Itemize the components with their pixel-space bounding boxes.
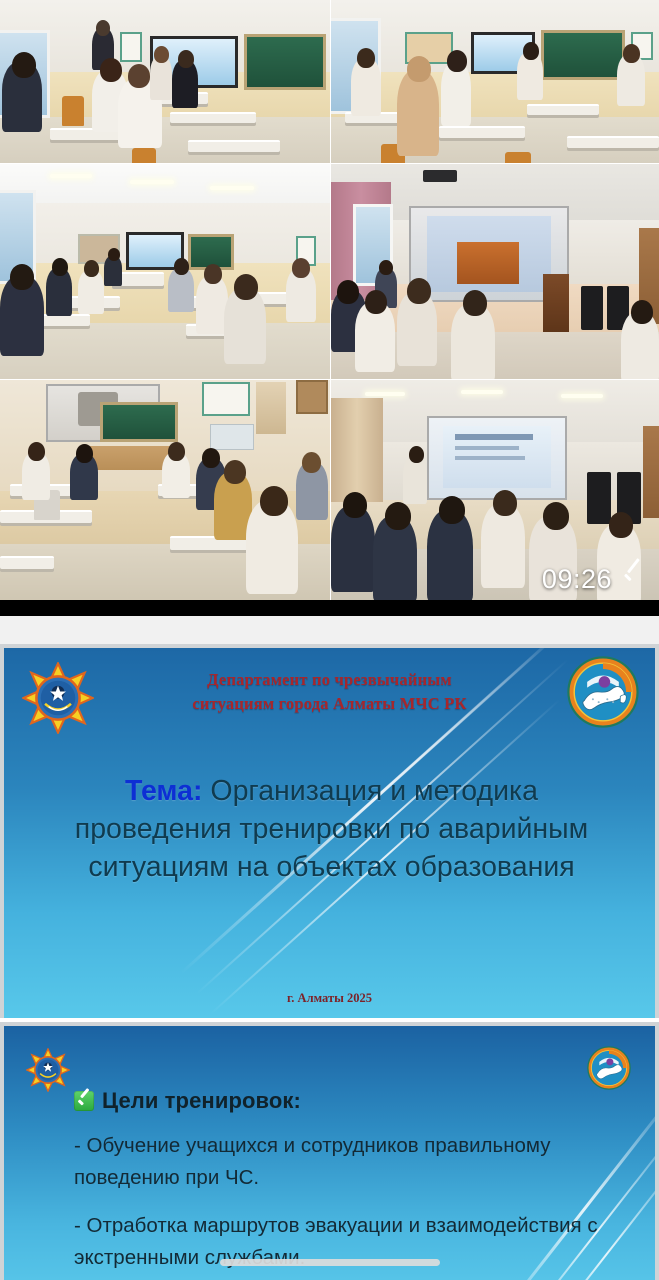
slide-title-canvas: Департамент по чрезвычайным ситуациям го… [4, 648, 655, 1018]
sent-check-icon [621, 567, 645, 591]
photo-1-scene [0, 0, 330, 163]
collage-grid [0, 0, 659, 600]
city-year-label: г. Алматы 2025 [4, 991, 655, 1006]
collage-photo-2[interactable] [331, 0, 659, 163]
kazakhstan-emergency-star-emblem-2 [26, 1048, 70, 1092]
green-check-box-icon [74, 1091, 94, 1111]
collage-photo-5[interactable] [0, 380, 330, 602]
home-indicator-bar[interactable] [220, 1259, 440, 1266]
collage-photo-4[interactable] [331, 164, 659, 379]
slide-goals-attachment[interactable]: Цели тренировок: - Обучение учащихся и с… [0, 1022, 659, 1280]
department-title: Департамент по чрезвычайным ситуациям го… [4, 668, 655, 716]
photo-4-scene [331, 164, 659, 379]
slide-theme-block: Тема: Организация и методика проведения … [44, 773, 619, 887]
collage-photo-3[interactable] [0, 164, 330, 379]
photo-5-scene [0, 380, 330, 602]
goals-heading-label: Цели тренировок: [102, 1088, 301, 1114]
goals-bullet-list: - Обучение учащихся и сотрудников правил… [74, 1130, 629, 1280]
almaty-snow-leopard-emblem-2 [587, 1046, 631, 1090]
collage-bottom-strip [0, 600, 659, 616]
goals-bullet-1: - Обучение учащихся и сотрудников правил… [74, 1130, 629, 1195]
timestamp-label: 09:26 [542, 564, 612, 595]
slide-goals-canvas: Цели тренировок: - Обучение учащихся и с… [4, 1026, 655, 1280]
photo-3-scene [0, 164, 330, 379]
photo-2-scene [331, 0, 659, 163]
slide-title-attachment[interactable]: Департамент по чрезвычайным ситуациям го… [0, 644, 659, 1018]
department-line-2: ситуациям города Алматы МЧС РК [4, 692, 655, 716]
attachment-gap [0, 616, 659, 644]
department-line-1: Департамент по чрезвычайным [4, 668, 655, 692]
photo-collage-attachment[interactable]: 09:26 [0, 0, 659, 616]
theme-label: Тема: [125, 775, 203, 807]
message-timestamp-group: 09:26 [542, 556, 659, 602]
goals-heading: Цели тренировок: [74, 1088, 301, 1114]
collage-photo-1[interactable] [0, 0, 330, 163]
